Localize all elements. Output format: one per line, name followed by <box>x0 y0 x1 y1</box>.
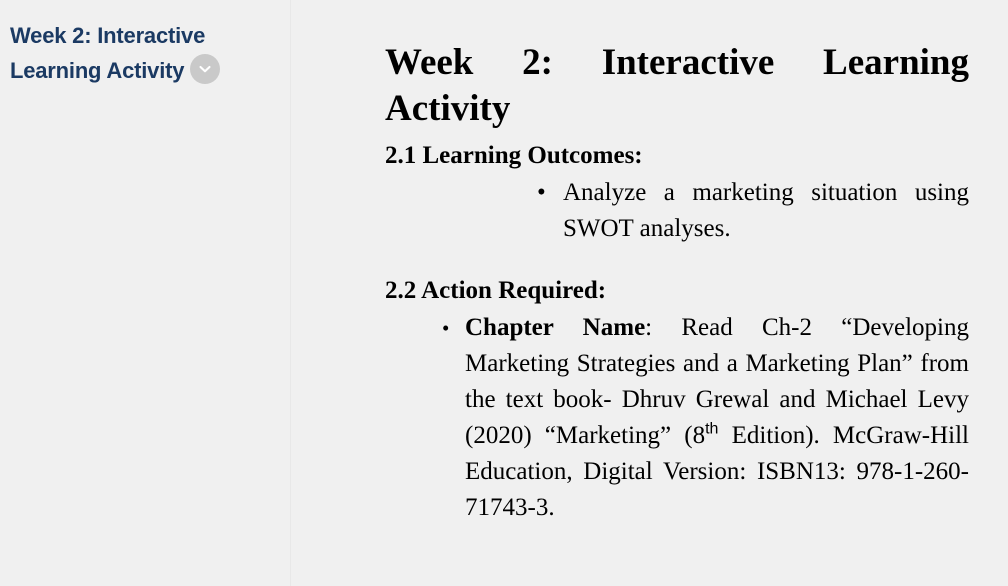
document-body: Week 2: Interactive Learning Activity 2.… <box>385 40 969 526</box>
list-item-text: Analyze a marketing situation using SWOT… <box>563 179 969 242</box>
section-spacer <box>385 247 969 276</box>
action-required-list: Chapter Name: Read Ch-2 “Developing Mark… <box>385 310 969 526</box>
page-root: Week 2: Interactive Learning Activity We… <box>0 0 1008 586</box>
chapter-name-label: Chapter Name <box>465 314 645 341</box>
sidebar-activity-header[interactable]: Week 2: Interactive Learning Activity <box>10 18 279 88</box>
learning-outcomes-list: Analyze a marketing situation using SWOT… <box>385 175 969 247</box>
section-heading-learning-outcomes: 2.1 Learning Outcomes: <box>385 141 969 171</box>
document-title: Week 2: Interactive Learning Activity <box>385 40 969 133</box>
list-item: Analyze a marketing situation using SWOT… <box>385 175 969 247</box>
main-content: Week 2: Interactive Learning Activity 2.… <box>291 0 1008 586</box>
list-item: Chapter Name: Read Ch-2 “Developing Mark… <box>385 310 969 526</box>
sidebar: Week 2: Interactive Learning Activity <box>0 0 291 586</box>
chevron-down-icon[interactable] <box>190 54 220 84</box>
sidebar-activity-title: Week 2: Interactive Learning Activity <box>10 23 205 83</box>
section-heading-action-required: 2.2 Action Required: <box>385 276 969 306</box>
ordinal-suffix: th <box>705 420 718 437</box>
